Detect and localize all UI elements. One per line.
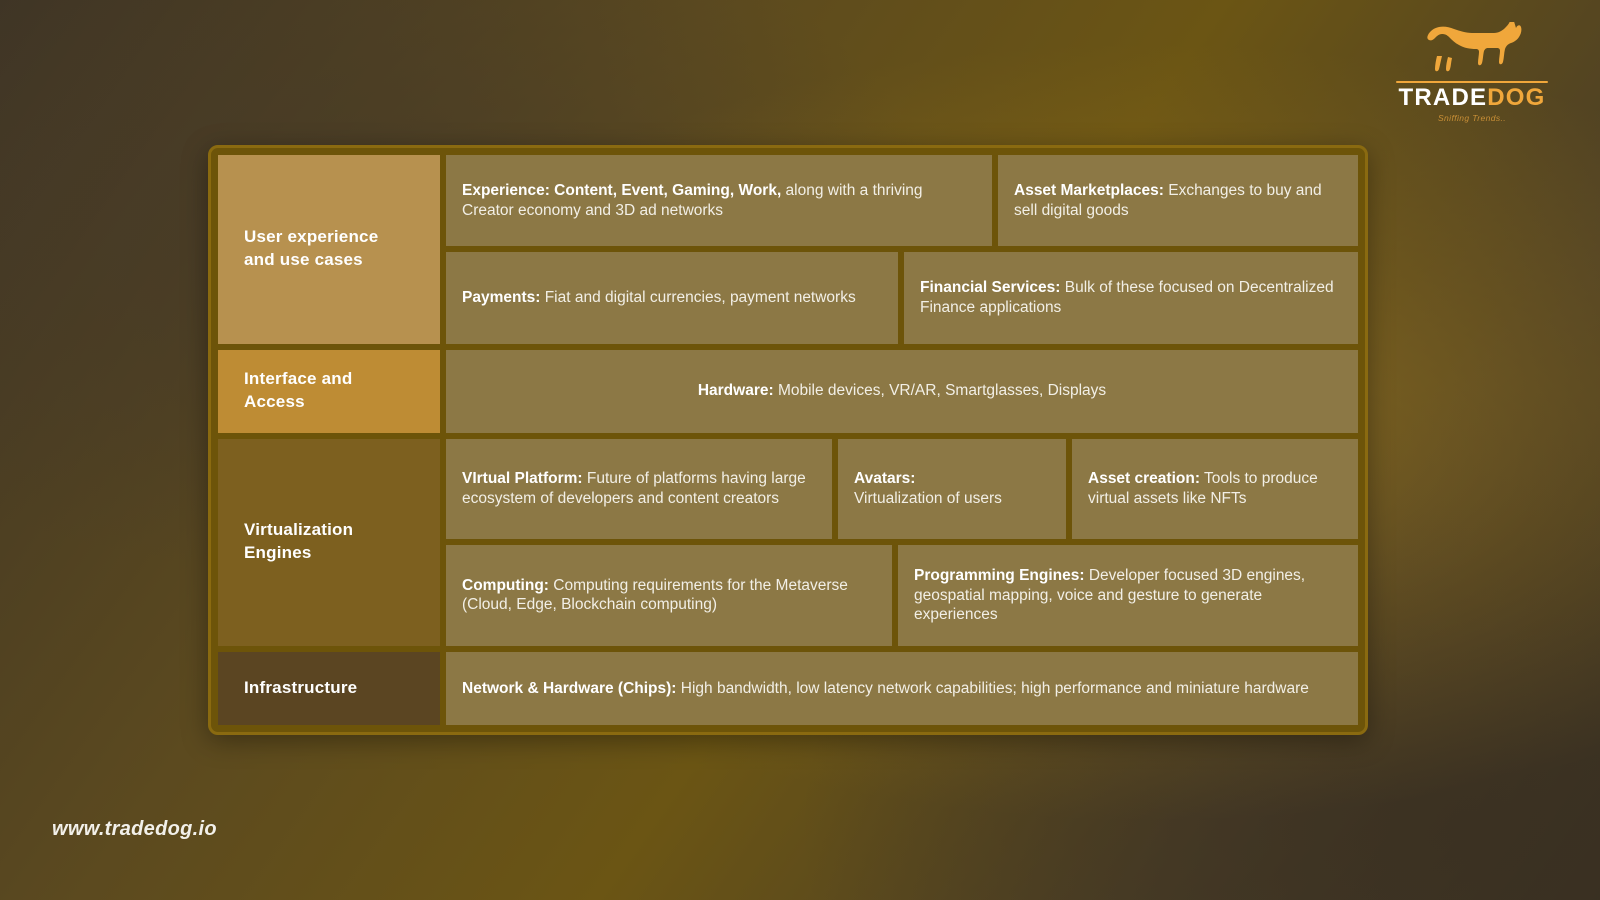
dog-silhouette-icon: [1392, 22, 1552, 79]
cell-network-hardware: Network & Hardware (Chips): High bandwid…: [446, 652, 1358, 725]
logo-divider: [1396, 81, 1548, 83]
subrow-top: Experience: Content, Event, Gaming, Work…: [446, 155, 1358, 246]
cell-hardware-body: Mobile devices, VR/AR, Smartglasses, Dis…: [774, 382, 1107, 399]
row-body-virtualization-engines: VIrtual Platform: Future of platforms ha…: [446, 439, 1358, 646]
cell-virtual-platform-title: VIrtual Platform:: [462, 470, 583, 487]
cell-asset-creation-title: Asset creation:: [1088, 470, 1200, 487]
diagram-row-infrastructure: Infrastructure Network & Hardware (Chips…: [218, 652, 1358, 725]
cell-payments-title: Payments:: [462, 289, 540, 306]
diagram-row-virtualization-engines: Virtualization Engines VIrtual Platform:…: [218, 439, 1358, 646]
cell-avatars: Avatars:Virtualization of users: [838, 439, 1066, 540]
tradedog-logo: TRADEDOG Sniffing Trends..: [1392, 22, 1552, 123]
cell-hardware-title: Hardware:: [698, 382, 774, 399]
row-label-interface-access: Interface and Access: [218, 350, 440, 433]
logo-wordmark: TRADEDOG: [1392, 86, 1552, 110]
row-body-interface-access: Hardware: Mobile devices, VR/AR, Smartgl…: [446, 350, 1358, 433]
diagram-row-user-experience: User experience and use cases Experience…: [218, 155, 1358, 344]
cell-computing: Computing: Computing requirements for th…: [446, 545, 892, 646]
row-body-user-experience: Experience: Content, Event, Gaming, Work…: [446, 155, 1358, 344]
cell-financial-services-title: Financial Services:: [920, 279, 1060, 296]
cell-asset-creation: Asset creation: Tools to produce virtual…: [1072, 439, 1358, 540]
cell-financial-services: Financial Services: Bulk of these focuse…: [904, 252, 1358, 343]
cell-hardware: Hardware: Mobile devices, VR/AR, Smartgl…: [446, 350, 1358, 433]
subrow-single: Network & Hardware (Chips): High bandwid…: [446, 652, 1358, 725]
cell-avatars-body: Virtualization of users: [854, 490, 1002, 507]
cell-payments-body: Fiat and digital currencies, payment net…: [540, 289, 855, 306]
cell-experience-title: Experience: Content, Event, Gaming, Work…: [462, 182, 781, 199]
logo-tagline: Sniffing Trends..: [1392, 113, 1552, 123]
metaverse-stack-diagram: User experience and use cases Experience…: [208, 145, 1368, 735]
logo-word-trade: TRADE: [1399, 84, 1488, 111]
subrow-top: VIrtual Platform: Future of platforms ha…: [446, 439, 1358, 540]
cell-payments: Payments: Fiat and digital currencies, p…: [446, 252, 898, 343]
row-label-user-experience: User experience and use cases: [218, 155, 440, 344]
cell-asset-marketplaces: Asset Marketplaces: Exchanges to buy and…: [998, 155, 1358, 246]
subrow-bottom: Computing: Computing requirements for th…: [446, 545, 1358, 646]
cell-computing-title: Computing:: [462, 577, 549, 594]
cell-experience: Experience: Content, Event, Gaming, Work…: [446, 155, 992, 246]
row-label-infrastructure: Infrastructure: [218, 652, 440, 725]
subrow-bottom: Payments: Fiat and digital currencies, p…: [446, 252, 1358, 343]
website-url: www.tradedog.io: [52, 818, 217, 841]
row-body-infrastructure: Network & Hardware (Chips): High bandwid…: [446, 652, 1358, 725]
cell-virtual-platform: VIrtual Platform: Future of platforms ha…: [446, 439, 832, 540]
diagram-row-interface-access: Interface and Access Hardware: Mobile de…: [218, 350, 1358, 433]
cell-network-hardware-title: Network & Hardware (Chips):: [462, 680, 676, 697]
cell-network-hardware-body: High bandwidth, low latency network capa…: [676, 680, 1308, 697]
cell-programming-engines-title: Programming Engines:: [914, 567, 1085, 584]
row-label-virtualization-engines: Virtualization Engines: [218, 439, 440, 646]
subrow-single: Hardware: Mobile devices, VR/AR, Smartgl…: [446, 350, 1358, 433]
logo-word-dog: DOG: [1487, 84, 1545, 111]
cell-asset-marketplaces-title: Asset Marketplaces:: [1014, 182, 1164, 199]
cell-avatars-title: Avatars:: [854, 470, 915, 487]
cell-programming-engines: Programming Engines: Developer focused 3…: [898, 545, 1358, 646]
